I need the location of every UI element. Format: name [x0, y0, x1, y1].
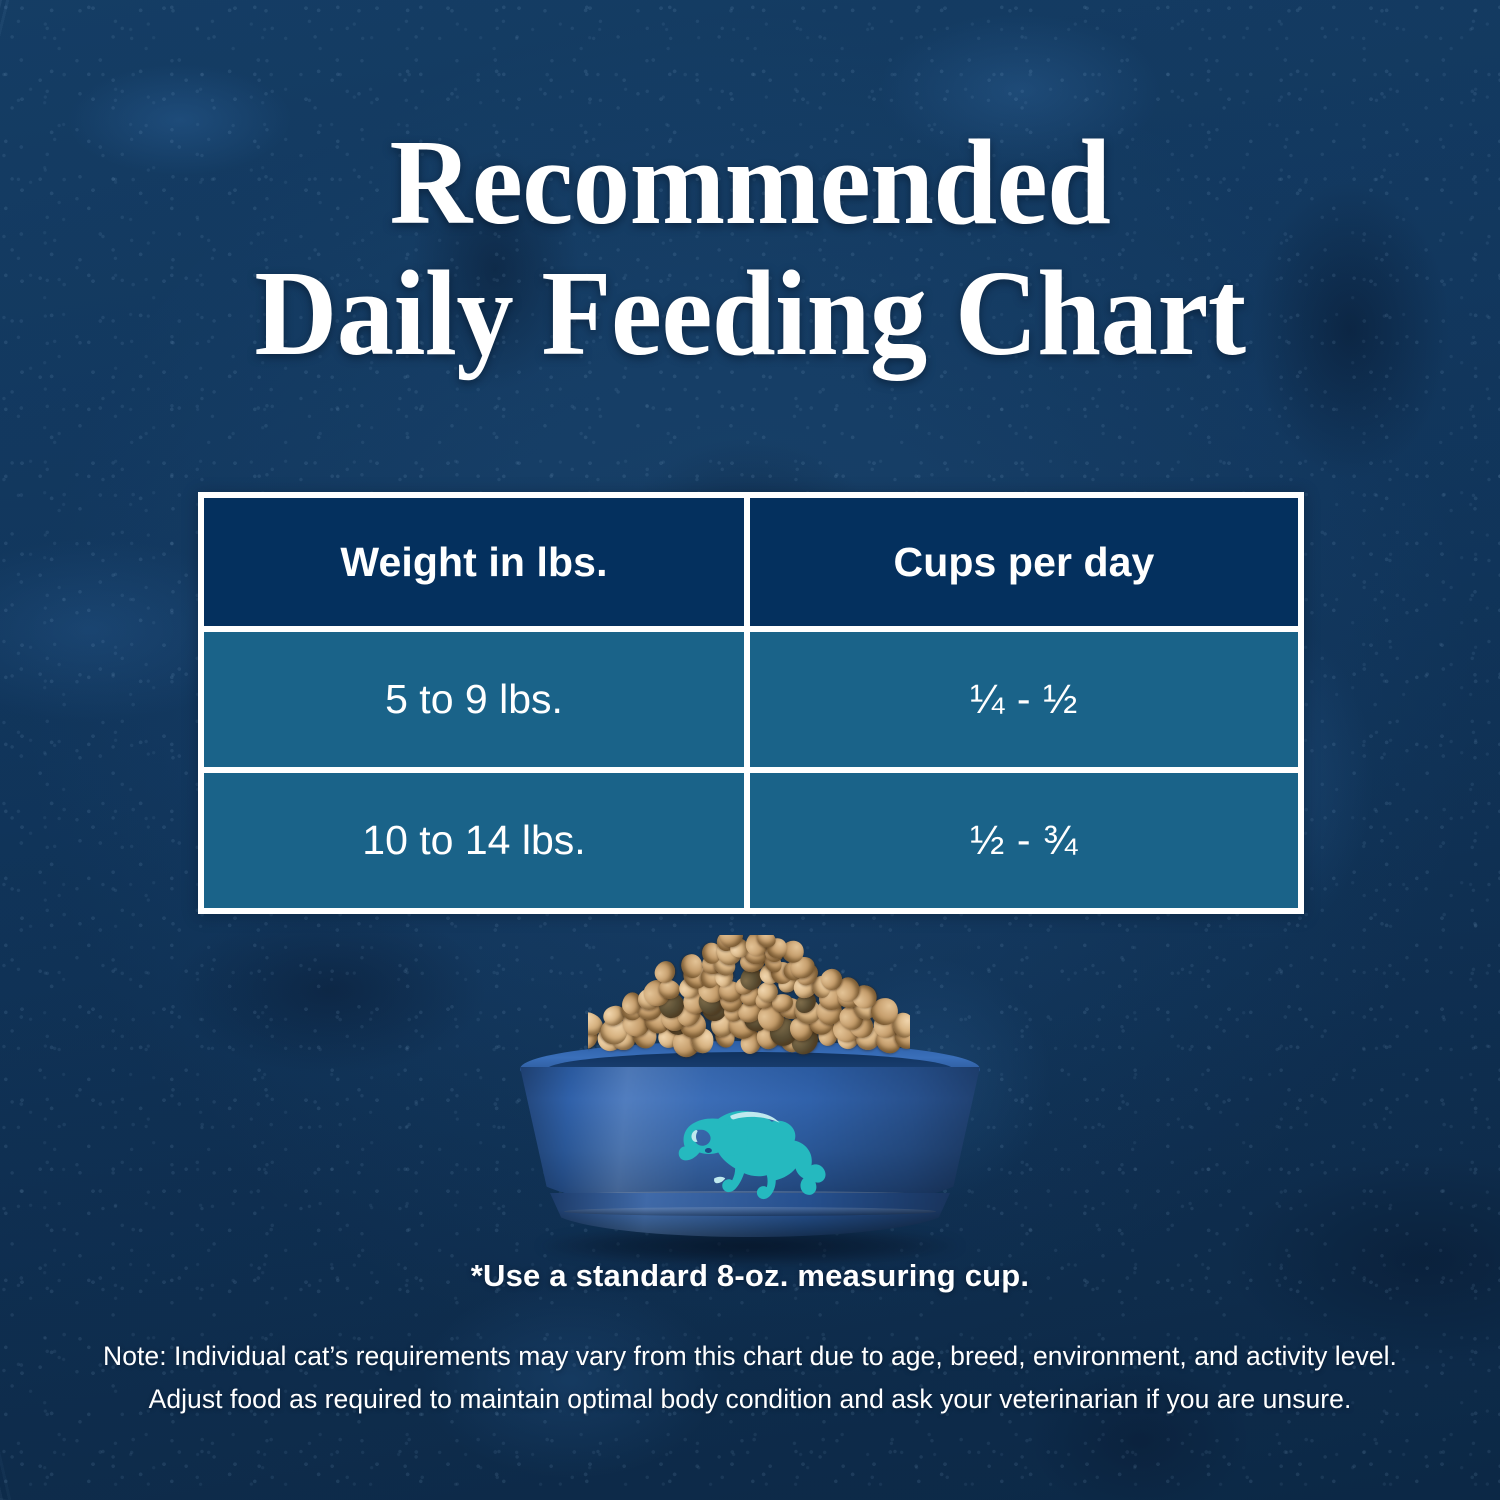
cell-weight-row-2: 10 to 14 lbs.	[201, 770, 747, 911]
table-row: 10 to 14 lbs. ½ - ¾	[201, 770, 1301, 911]
bowl-base-groove-secondary	[564, 1207, 936, 1216]
measuring-cup-footnote: *Use a standard 8-oz. measuring cup.	[0, 1258, 1500, 1294]
bowl-body	[520, 1041, 980, 1231]
cell-weight-row-1: 5 to 9 lbs.	[201, 629, 747, 770]
table-header: Weight in lbs. Cups per day	[201, 495, 1301, 629]
food-bowl-illustration	[510, 935, 990, 1270]
table-row: 5 to 9 lbs. ¼ - ½	[201, 629, 1301, 770]
disclaimer-note-line-1: Note: Individual cat’s requirements may …	[0, 1335, 1500, 1378]
feeding-chart-table: Weight in lbs. Cups per day 5 to 9 lbs. …	[198, 492, 1304, 914]
column-header-cups: Cups per day	[747, 495, 1301, 629]
kibble-pile	[588, 935, 910, 1063]
disclaimer-note: Note: Individual cat’s requirements may …	[0, 1335, 1500, 1421]
page-title-line-1: Recommended	[45, 118, 1455, 249]
cell-cups-row-2: ½ - ¾	[747, 770, 1301, 911]
disclaimer-note-line-2: Adjust food as required to maintain opti…	[0, 1378, 1500, 1421]
bison-icon	[666, 1099, 836, 1203]
page-title-line-2: Daily Feeding Chart	[45, 249, 1455, 380]
column-header-weight: Weight in lbs.	[201, 495, 747, 629]
cell-cups-row-1: ¼ - ½	[747, 629, 1301, 770]
page-title: Recommended Daily Feeding Chart	[45, 118, 1455, 379]
table-header-row: Weight in lbs. Cups per day	[201, 495, 1301, 629]
table-body: 5 to 9 lbs. ¼ - ½ 10 to 14 lbs. ½ - ¾	[201, 629, 1301, 911]
